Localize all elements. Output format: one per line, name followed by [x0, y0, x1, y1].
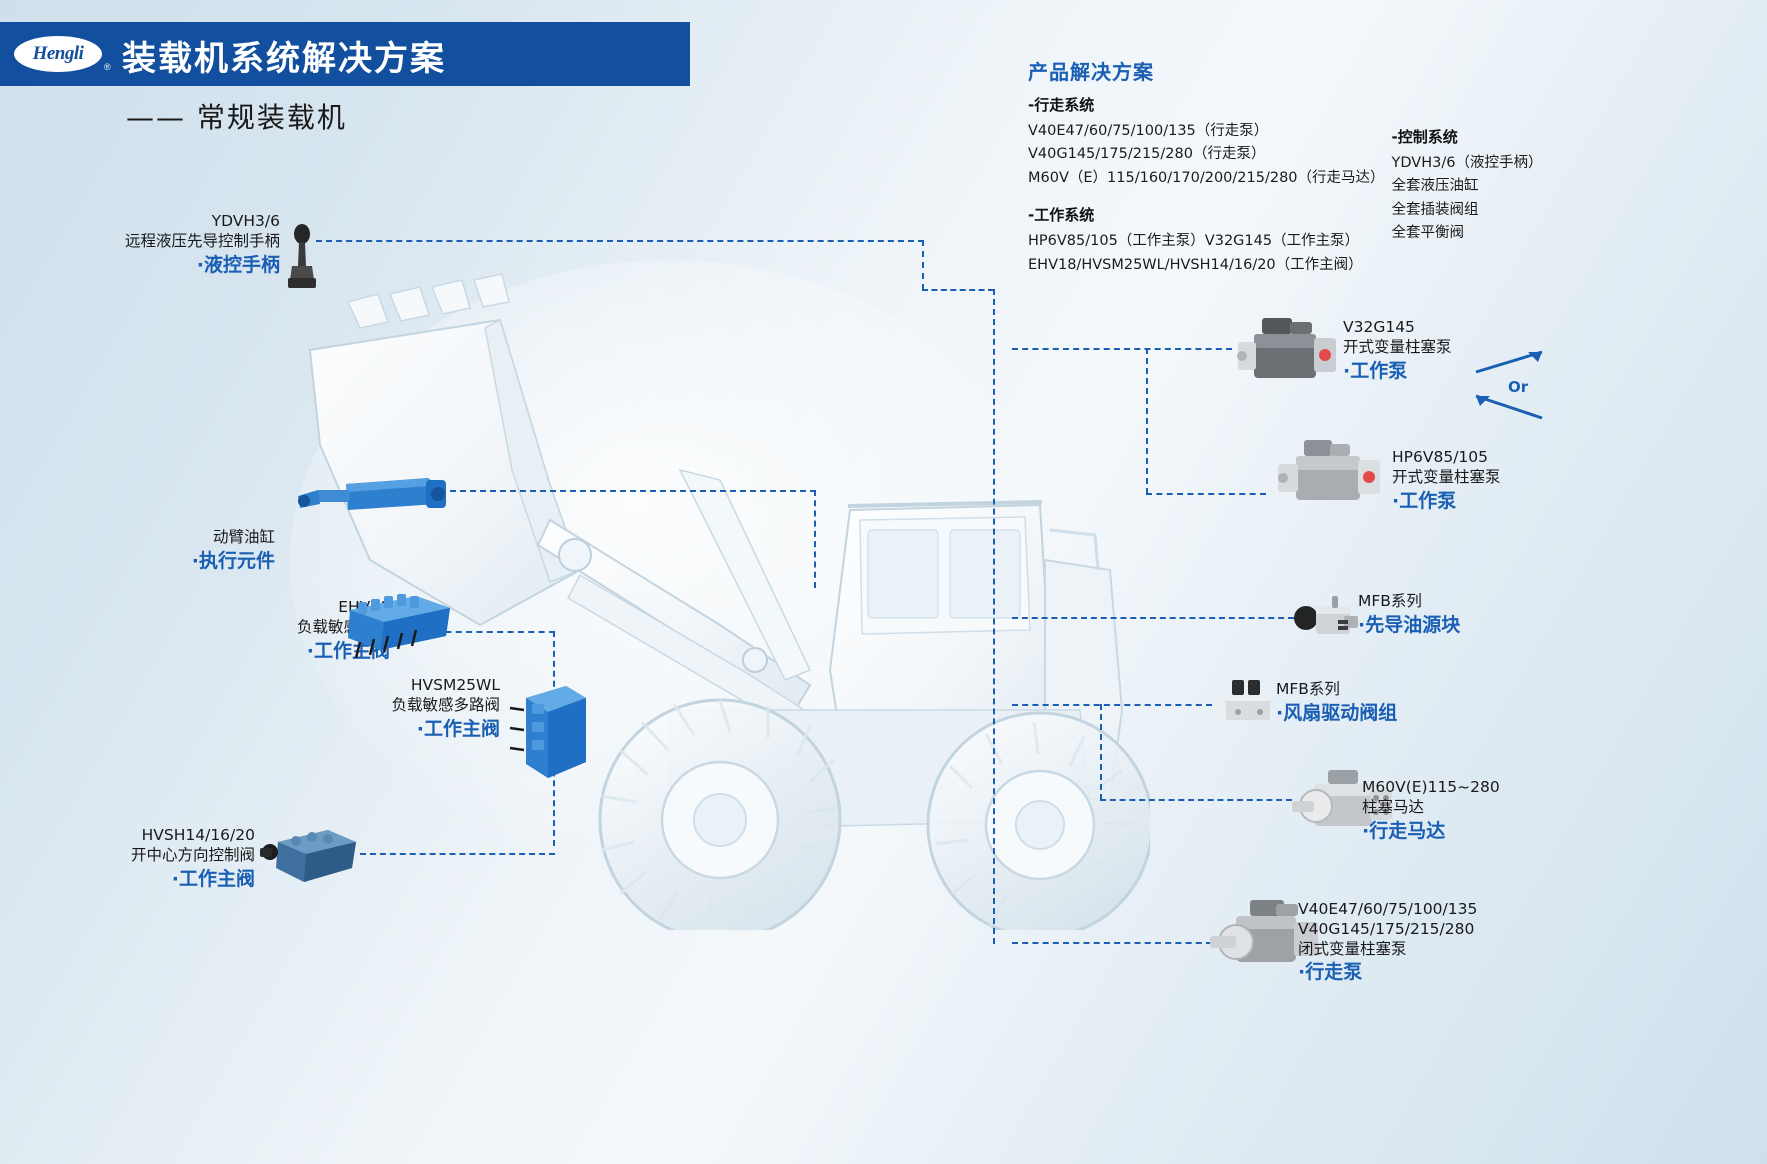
- hengli-logo: Hengli: [14, 36, 102, 72]
- or-arrow-down-icon: [1472, 392, 1552, 422]
- callout-ydvh-code: YDVH3/6: [60, 212, 280, 232]
- mfb-pilot-block-image: [1292, 588, 1362, 646]
- connector-ydvh-v: [922, 240, 924, 290]
- callout-v40-desc: 闭式变量柱塞泵: [1298, 940, 1548, 960]
- hp6v-pump-image: [1268, 432, 1386, 512]
- callout-m60v-desc: 柱塞马达: [1362, 798, 1582, 818]
- callout-mfb-fan: MFB系列 ·风扇驱动阀组: [1276, 680, 1476, 725]
- callout-hvsh-cat: ·工作主阀: [60, 867, 255, 891]
- control-system-line-1: YDVH3/6（液控手柄）: [1392, 152, 1588, 175]
- callout-hvsm25wl-code: HVSM25WL: [310, 676, 500, 696]
- callout-boom-cylinder: 动臂油缸 ·执行元件: [110, 528, 275, 573]
- connector-v40: [1012, 942, 1212, 944]
- callout-v40-cat: ·行走泵: [1298, 960, 1548, 984]
- callout-ydvh-desc: 远程液压先导控制手柄: [60, 232, 280, 252]
- callout-v40: V40E47/60/75/100/135 V40G145/175/215/280…: [1298, 900, 1548, 985]
- callout-v40-code: V40E47/60/75/100/135: [1298, 900, 1548, 920]
- callout-boom-cylinder-desc: 动臂油缸: [110, 528, 275, 548]
- logo-text: Hengli: [33, 43, 84, 65]
- control-system-line-2: 全套液压油缸: [1392, 175, 1588, 198]
- connector-ydvh: [316, 240, 924, 242]
- product-solution-right-column: -控制系统 YDVH3/6（液控手柄） 全套液压油缸 全套插装阀组 全套平衡阀: [1392, 94, 1588, 246]
- callout-hvsh-code: HVSH14/16/20: [60, 826, 255, 846]
- callout-ydvh: YDVH3/6 远程液压先导控制手柄 ·液控手柄: [60, 212, 280, 277]
- ehv18-valve-image: [338, 588, 458, 663]
- callout-mfb-pilot-cat: ·先导油源块: [1358, 613, 1558, 637]
- callout-hp6v-cat: ·工作泵: [1392, 489, 1622, 513]
- callout-mfb-fan-code: MFB系列: [1276, 680, 1476, 700]
- connector-hp6v: [1146, 493, 1266, 495]
- ydvh-joystick-image: [282, 222, 322, 292]
- connector-mfb-pilot: [1012, 617, 1294, 619]
- control-system-line-4: 全套平衡阀: [1392, 222, 1588, 245]
- callout-v32g145-code: V32G145: [1343, 318, 1573, 338]
- registered-trademark-icon: ®: [104, 62, 111, 72]
- callout-mfb-fan-cat: ·风扇驱动阀组: [1276, 701, 1476, 725]
- connector-cylinder-v: [814, 490, 816, 588]
- callout-hp6v-desc: 开式变量柱塞泵: [1392, 468, 1622, 488]
- hvsh-valve-image: [258, 822, 363, 892]
- callout-boom-cylinder-cat: ·执行元件: [110, 549, 275, 573]
- mfb-fan-valve-image: [1214, 676, 1280, 728]
- connector-ydvh-h2: [922, 289, 994, 291]
- product-solution-title: 产品解决方案: [1028, 56, 1588, 85]
- hydraulic-cylinder-image: [288, 470, 463, 530]
- callout-hp6v: HP6V85/105 开式变量柱塞泵 ·工作泵: [1392, 448, 1622, 513]
- travel-system-heading: -行走系统: [1028, 94, 1392, 115]
- callout-hvsh-desc: 开中心方向控制阀: [60, 846, 255, 866]
- connector-v32g145-v: [1146, 348, 1148, 494]
- travel-system-line-2: V40G145/175/215/280（行走泵）: [1028, 143, 1392, 166]
- control-system-line-3: 全套插装阀组: [1392, 199, 1588, 222]
- connector-spine-main: [993, 289, 995, 944]
- page-subtitle: —— 常规装载机: [126, 96, 347, 136]
- or-arrow-up-icon: [1472, 348, 1552, 376]
- callout-m60v: M60V(E)115~280 柱塞马达 ·行走马达: [1362, 778, 1582, 843]
- callout-hp6v-code: HP6V85/105: [1392, 448, 1622, 468]
- work-system-heading: -工作系统: [1028, 204, 1392, 225]
- connector-v32g145: [1012, 348, 1232, 350]
- callout-ydvh-cat: ·液控手柄: [60, 253, 280, 277]
- callout-hvsm25wl-desc: 负载敏感多路阀: [310, 696, 500, 716]
- callout-v40-code2: V40G145/175/215/280: [1298, 920, 1548, 940]
- callout-mfb-pilot-code: MFB系列: [1358, 592, 1558, 612]
- wheel-loader-illustration: [250, 230, 1150, 930]
- connector-cylinder: [440, 490, 816, 492]
- control-system-heading: -控制系统: [1392, 126, 1588, 147]
- callout-hvsh: HVSH14/16/20 开中心方向控制阀 ·工作主阀: [60, 826, 255, 891]
- connector-mfb-fan: [1012, 704, 1212, 706]
- callout-hvsm25wl-cat: ·工作主阀: [310, 717, 500, 741]
- travel-system-line-3: M60V（E）115/160/170/200/215/280（行走马达）: [1028, 167, 1392, 190]
- callout-m60v-cat: ·行走马达: [1362, 819, 1582, 843]
- v32g145-pump-image: [1228, 312, 1343, 390]
- travel-system-line-1: V40E47/60/75/100/135（行走泵）: [1028, 120, 1392, 143]
- connector-hvsh: [360, 853, 555, 855]
- callout-hvsm25wl: HVSM25WL 负载敏感多路阀 ·工作主阀: [310, 676, 500, 741]
- hvsm25wl-valve-image: [508, 680, 593, 790]
- callout-m60v-code: M60V(E)115~280: [1362, 778, 1582, 798]
- page-title: 装载机系统解决方案: [122, 31, 446, 80]
- connector-mfb-fan-v: [1100, 704, 1102, 800]
- connector-m60v: [1100, 799, 1292, 801]
- callout-mfb-pilot: MFB系列 ·先导油源块: [1358, 592, 1558, 637]
